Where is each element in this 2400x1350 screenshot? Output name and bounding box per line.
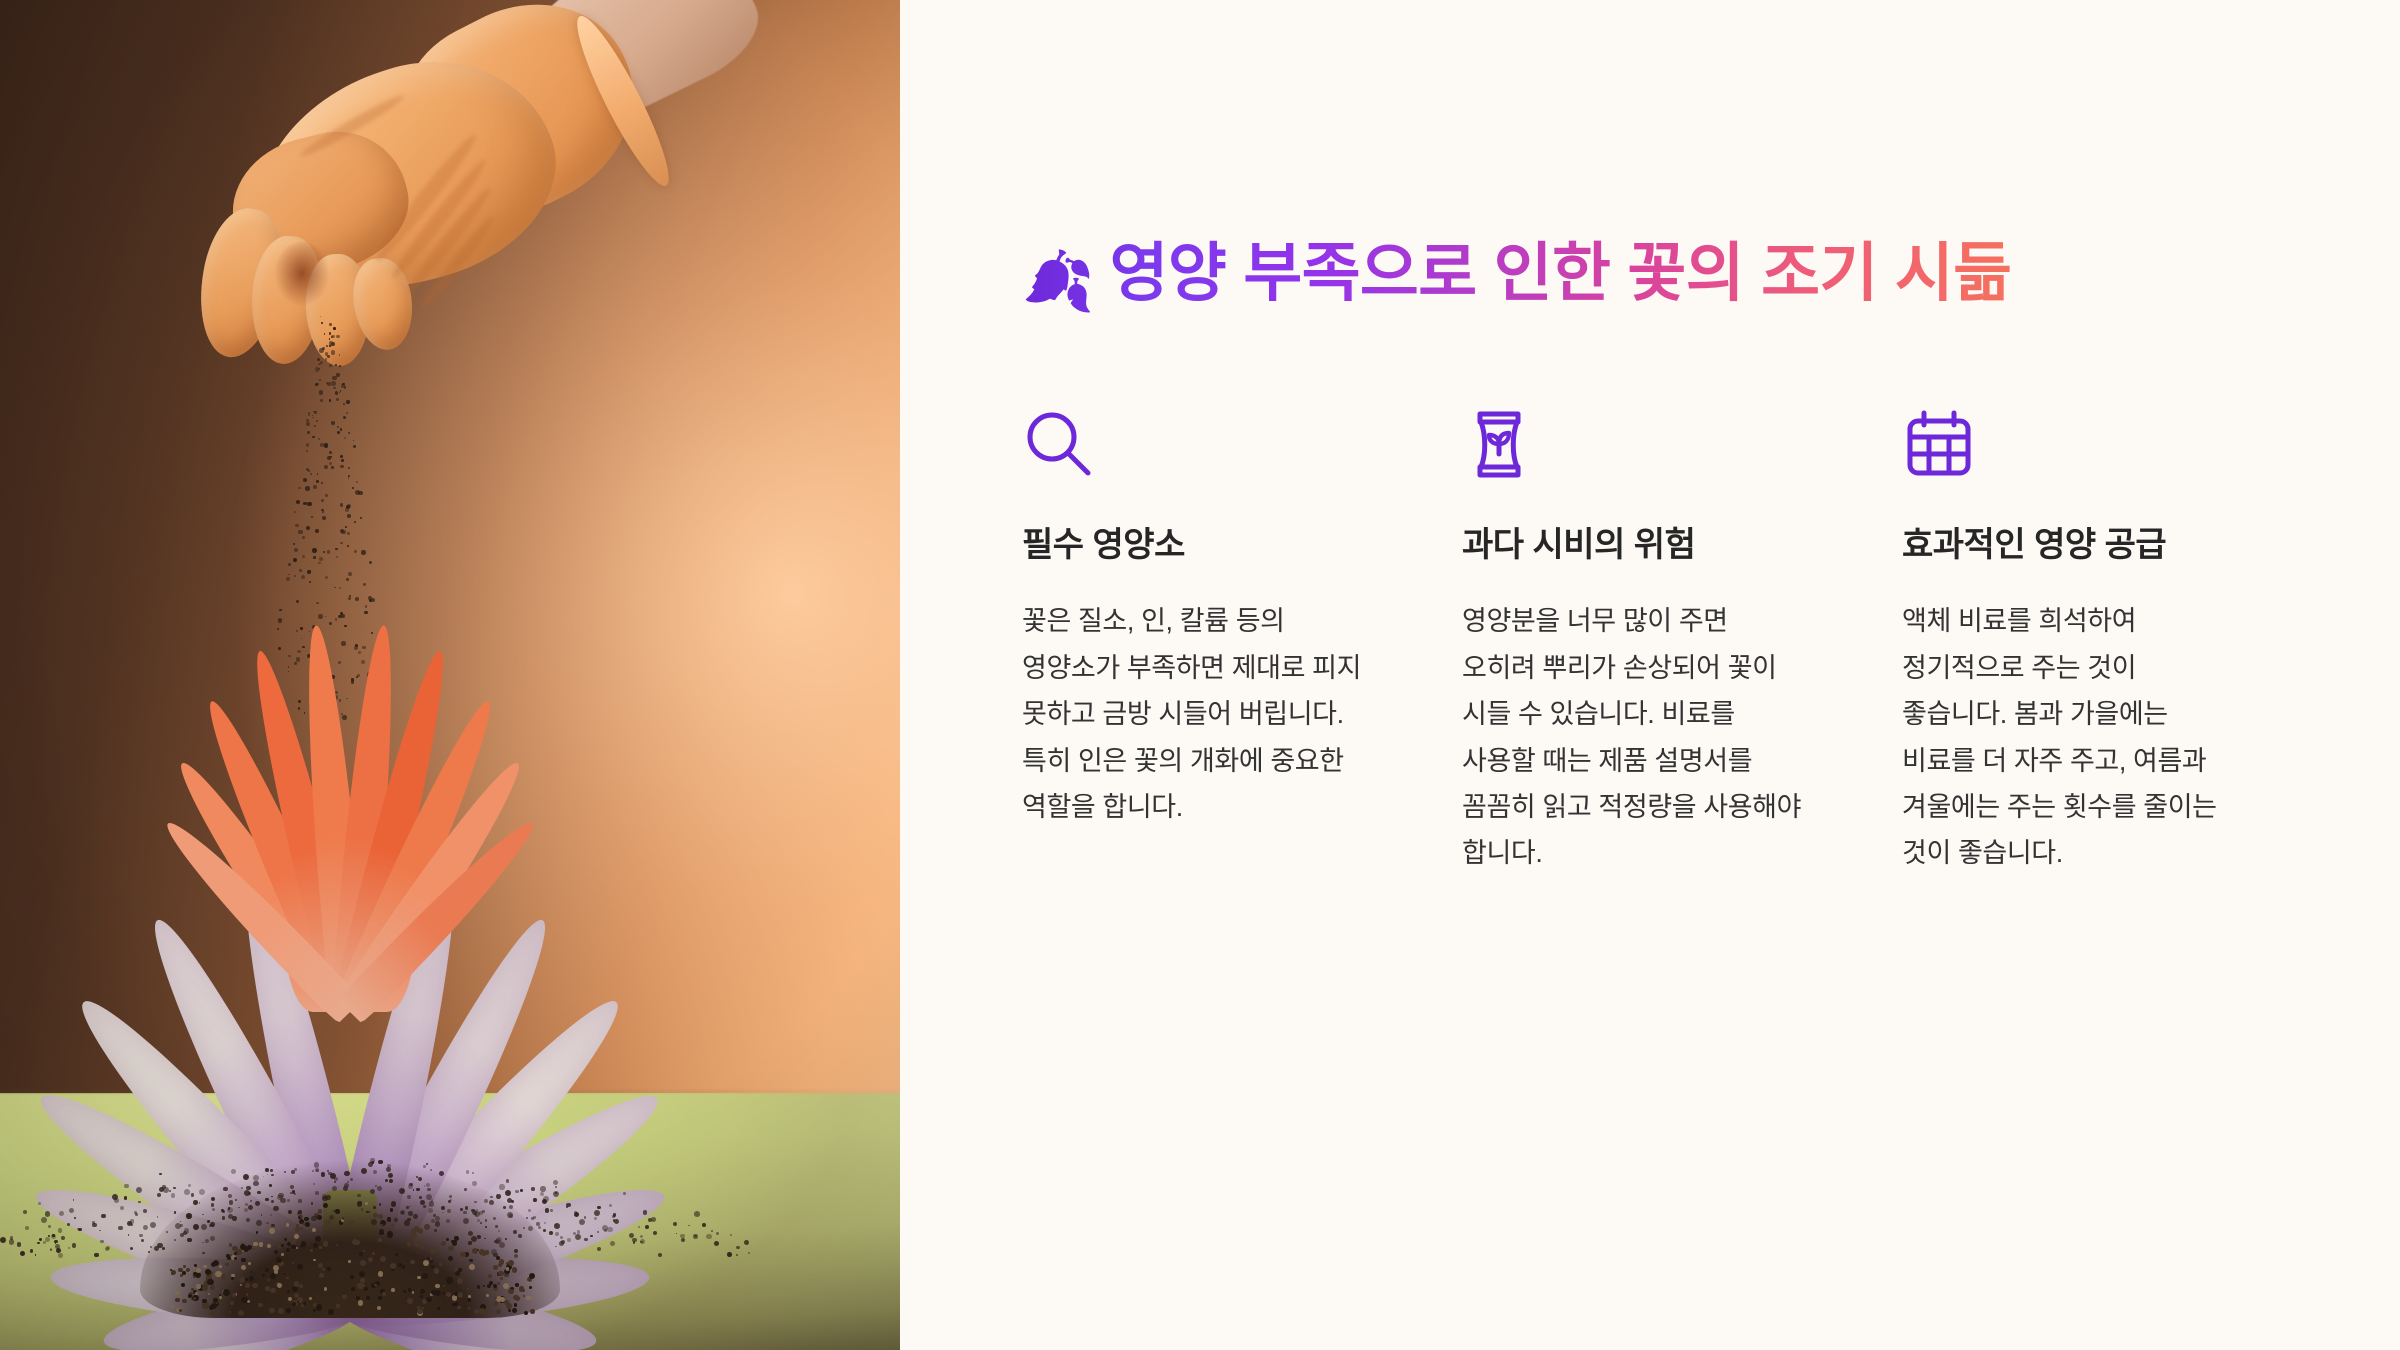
feature-body: 영양분을 너무 많이 주면 오히려 뿌리가 손상되어 꽃이 시들 수 있습니다.… [1462, 598, 1802, 877]
fertilizer-bag-icon [1462, 407, 1802, 481]
magnifier-icon [1022, 407, 1362, 481]
slide: 🍂영양 부족으로 인한 꽃의 조기 시듦 필수 영양소 꽃은 질소, 인, 칼륨… [0, 0, 2400, 1350]
feature-columns: 필수 영양소 꽃은 질소, 인, 칼륨 등의 영양소가 부족하면 제대로 피지 … [1022, 407, 2288, 877]
feature-column-essential-nutrients: 필수 영양소 꽃은 질소, 인, 칼륨 등의 영양소가 부족하면 제대로 피지 … [1022, 407, 1362, 877]
feature-column-effective-feeding: 효과적인 영양 공급 액체 비료를 희석하여 정기적으로 주는 것이 좋습니다.… [1902, 407, 2242, 877]
hero-photo [0, 0, 900, 1350]
calendar-icon [1902, 407, 2242, 481]
page-title: 🍂영양 부족으로 인한 꽃의 조기 시듦 [1022, 232, 2252, 315]
feature-heading: 필수 영양소 [1022, 517, 1362, 566]
feature-body: 꽃은 질소, 인, 칼륨 등의 영양소가 부족하면 제대로 피지 못하고 금방 … [1022, 598, 1362, 830]
page-title-text: 영양 부족으로 인한 꽃의 조기 시듦 [1110, 237, 2012, 309]
photo-vignette [0, 0, 900, 1350]
feature-body: 액체 비료를 희석하여 정기적으로 주는 것이 좋습니다. 봄과 가을에는 비료… [1902, 598, 2242, 877]
feature-column-over-fertilizing-risk: 과다 시비의 위험 영양분을 너무 많이 주면 오히려 뿌리가 손상되어 꽃이 … [1462, 407, 1802, 877]
content-panel: 🍂영양 부족으로 인한 꽃의 조기 시듦 필수 영양소 꽃은 질소, 인, 칼륨… [900, 0, 2400, 1350]
feature-heading: 과다 시비의 위험 [1462, 517, 1802, 566]
fallen-leaf-icon: 🍂 [1022, 253, 1094, 311]
feature-heading: 효과적인 영양 공급 [1902, 517, 2242, 566]
